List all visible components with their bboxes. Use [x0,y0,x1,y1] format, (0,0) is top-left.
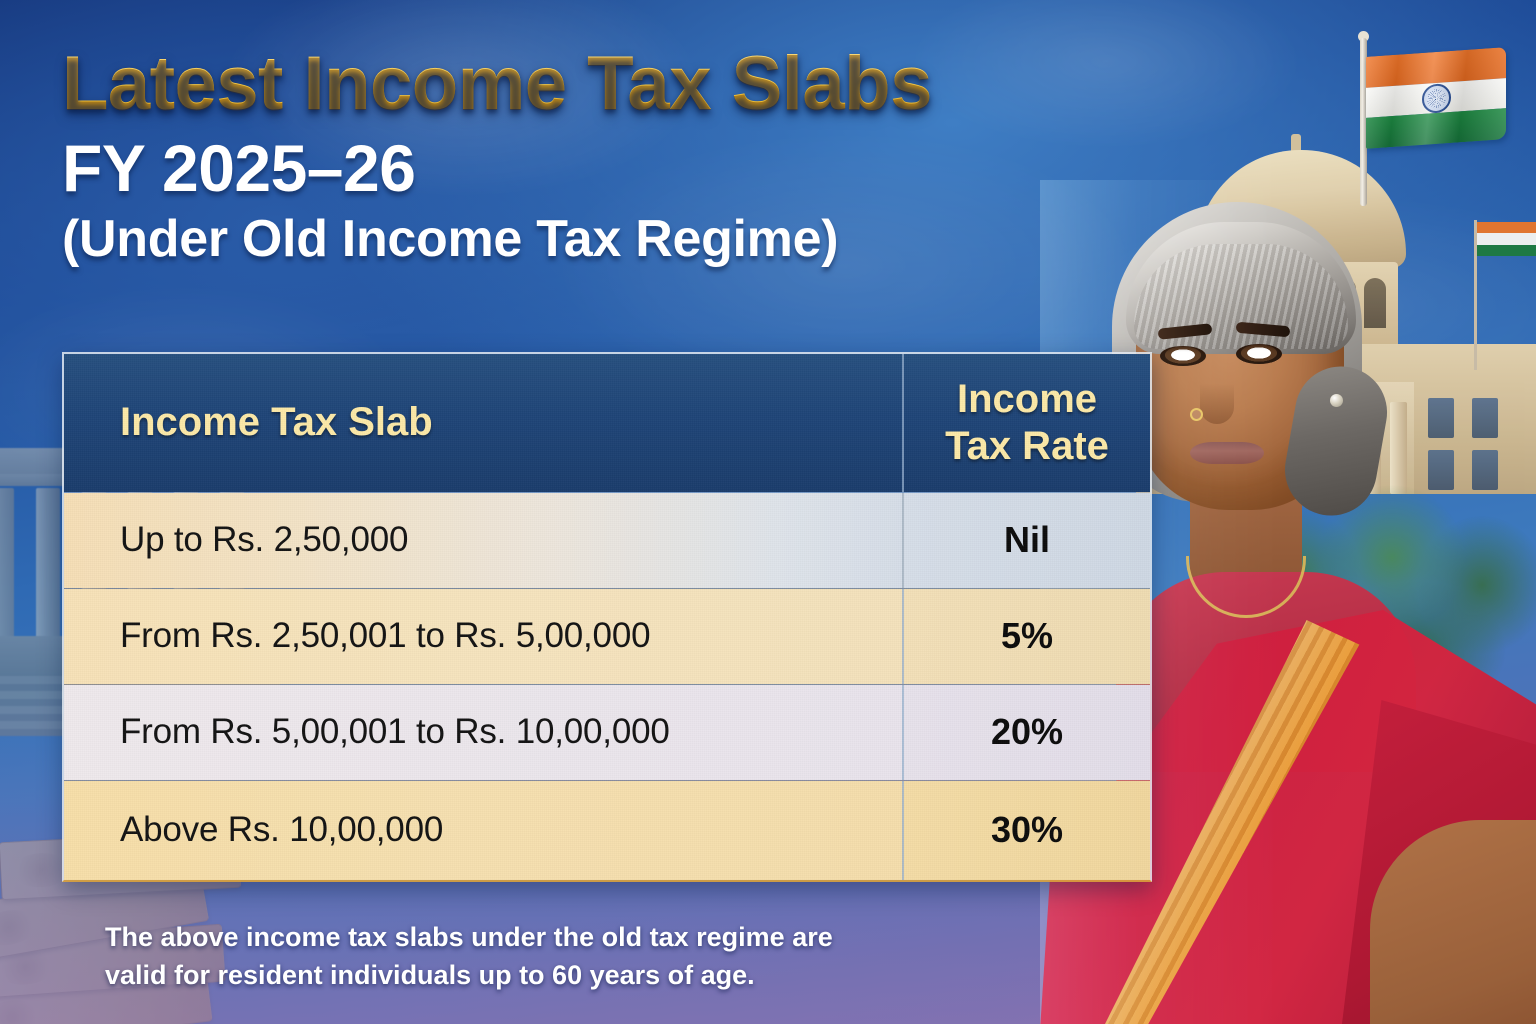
table-header-cell-slab: Income Tax Slab [64,354,904,492]
page-title: Latest Income Tax Slabs [62,48,932,121]
page-title-block: Latest Income Tax Slabs FY 2025–26 (Unde… [62,48,1122,265]
rate-label: 5% [1001,615,1053,657]
table-header-label-rate-line2: Tax Rate [945,424,1109,468]
table-cell-rate: 20% [904,685,1150,780]
rate-label: Nil [1004,519,1050,561]
table-row: From Rs. 2,50,001 to Rs. 5,00,000 5% [64,588,1150,684]
table-cell-rate: Nil [904,493,1150,588]
earring-icon [1330,394,1343,407]
footnote-line-2: valid for resident individuals up to 60 … [105,956,1035,994]
table-row: Up to Rs. 2,50,000 Nil [64,492,1150,588]
table-cell-rate: 30% [904,781,1150,880]
table-row: From Rs. 5,00,001 to Rs. 10,00,000 20% [64,684,1150,780]
table-header-cell-rate: Income Tax Rate [904,354,1150,492]
tax-slab-table: Income Tax Slab Income Tax Rate Up to Rs… [62,352,1152,882]
slab-label: From Rs. 2,50,001 to Rs. 5,00,000 [120,616,650,656]
table-header-label-rate: Income Tax Rate [945,376,1109,470]
table-cell-slab: From Rs. 2,50,001 to Rs. 5,00,000 [64,589,904,684]
page-subtitle-regime: (Under Old Income Tax Regime) [62,213,1122,265]
nose-ring-icon [1190,408,1203,421]
table-cell-rate: 5% [904,589,1150,684]
table-header-label-rate-line1: Income [957,377,1097,421]
table-row: Above Rs. 10,00,000 30% [64,780,1150,880]
rate-label: 30% [991,809,1063,851]
table-header-label-slab: Income Tax Slab [120,399,433,446]
page-subtitle: FY 2025–26 [62,135,1122,201]
table-cell-slab: Above Rs. 10,00,000 [64,781,904,880]
infographic-poster: Latest Income Tax Slabs FY 2025–26 (Unde… [0,0,1536,1024]
table-cell-slab: From Rs. 5,00,001 to Rs. 10,00,000 [64,685,904,780]
slab-label: From Rs. 5,00,001 to Rs. 10,00,000 [120,712,670,752]
slab-label: Above Rs. 10,00,000 [120,810,443,850]
rate-label: 20% [991,711,1063,753]
footnote: The above income tax slabs under the old… [105,918,1035,995]
table-cell-slab: Up to Rs. 2,50,000 [64,493,904,588]
slab-label: Up to Rs. 2,50,000 [120,520,408,560]
footnote-line-1: The above income tax slabs under the old… [105,918,1035,956]
table-header-row: Income Tax Slab Income Tax Rate [64,354,1150,492]
